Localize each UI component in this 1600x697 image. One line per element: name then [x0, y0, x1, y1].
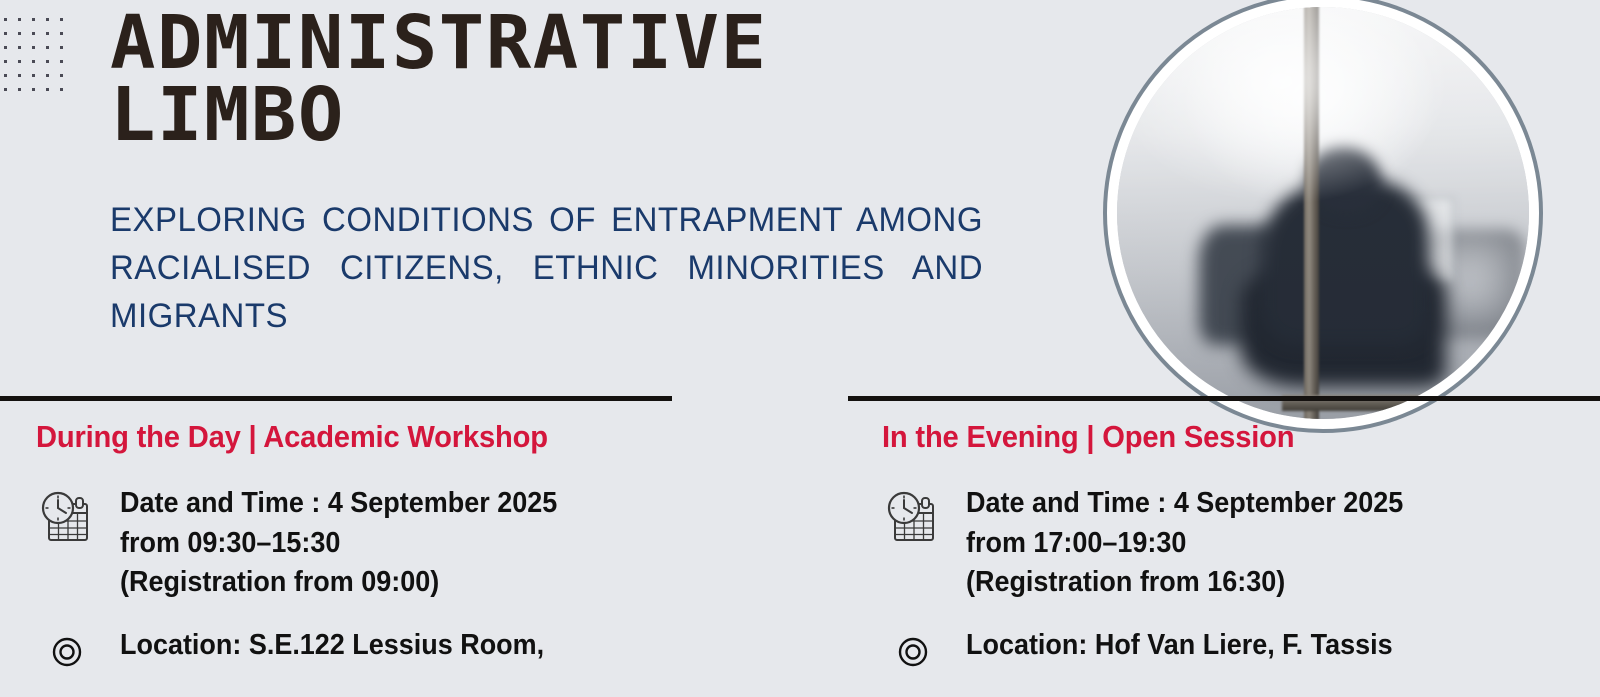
divider-rule-right [848, 396, 1600, 401]
title-block: ADMINISTRATIVE LIMBO EXPLORING CONDITION… [110, 8, 1030, 340]
session-datetime-row-evening: Date and Time : 4 September 2025 from 17… [882, 484, 1582, 602]
clock-calendar-icon [882, 484, 944, 544]
page-subtitle: EXPLORING CONDITIONS OF ENTRAPMENT AMONG… [110, 196, 983, 341]
circular-photo [1103, 0, 1553, 365]
session-location-row-evening: Location: Hof Van Liere, F. Tassis [882, 626, 1582, 670]
poster-header: ADMINISTRATIVE LIMBO EXPLORING CONDITION… [0, 0, 1600, 392]
session-columns: During the Day | Academic Workshop [0, 420, 1600, 697]
divider-rule-left [0, 396, 672, 401]
session-location-day: Location: S.E.122 Lessius Room, [120, 626, 544, 665]
location-circle-icon [882, 626, 944, 670]
poster-canvas: ADMINISTRATIVE LIMBO EXPLORING CONDITION… [0, 0, 1600, 697]
page-title: ADMINISTRATIVE LIMBO [110, 8, 1048, 152]
location-circle-icon [36, 626, 98, 670]
session-datetime-day: Date and Time : 4 September 2025 from 09… [120, 484, 557, 602]
photo-window-mullion [1304, 7, 1319, 419]
session-datetime-row-day: Date and Time : 4 September 2025 from 09… [36, 484, 736, 602]
session-location-row-day: Location: S.E.122 Lessius Room, [36, 626, 736, 670]
session-column-day: During the Day | Academic Workshop [36, 420, 736, 670]
session-heading-day: During the Day | Academic Workshop [36, 420, 694, 454]
photo-image [1117, 7, 1529, 419]
session-column-evening: In the Evening | Open Session [882, 420, 1582, 670]
session-location-evening: Location: Hof Van Liere, F. Tassis [966, 626, 1393, 665]
session-datetime-evening: Date and Time : 4 September 2025 from 17… [966, 484, 1403, 602]
clock-calendar-icon [36, 484, 98, 544]
session-heading-evening: In the Evening | Open Session [882, 420, 1540, 454]
